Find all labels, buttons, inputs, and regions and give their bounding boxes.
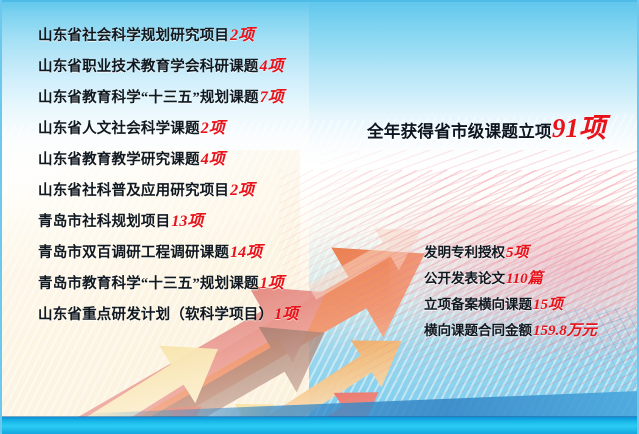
project-label: 山东省重点研发计划（软科学项目） [38, 307, 273, 323]
achievement-value: 159.8万元 [532, 323, 597, 339]
list-item: 发明专利授权5项 [424, 240, 639, 266]
achievement-value: 110篇 [505, 271, 543, 287]
project-label: 山东省社科普及应用研究项目 [38, 183, 229, 199]
headline-value: 91项 [552, 113, 606, 143]
project-value: 14项 [229, 244, 262, 261]
project-label: 山东省社会科学规划研究项目 [38, 28, 229, 44]
list-item: 横向课题合同金额159.8万元 [424, 318, 639, 344]
project-value: 2项 [229, 182, 254, 199]
achievement-label: 发明专利授权 [424, 245, 505, 260]
project-value: 2项 [229, 27, 254, 44]
list-item: 山东省社科普及应用研究项目2项 [38, 175, 368, 206]
project-label: 山东省教育教学研究课题 [38, 152, 200, 168]
list-item: 山东省教育教学研究课题4项 [38, 144, 368, 175]
list-item: 青岛市社科规划项目13项 [38, 206, 368, 237]
list-item: 山东省人文社会科学课题2项 [38, 113, 368, 144]
project-value: 4项 [200, 151, 225, 168]
achievement-value: 15项 [532, 297, 563, 313]
list-item: 山东省重点研发计划（软科学项目）1项 [38, 299, 368, 330]
frame-top-edge [0, 0, 639, 2]
project-value: 1项 [259, 275, 284, 292]
project-label: 山东省职业技术教育学会科研课题 [38, 59, 259, 75]
project-value: 2项 [200, 120, 225, 137]
list-item: 青岛市双百调研工程调研课题14项 [38, 237, 368, 268]
project-label: 山东省教育科学“十三五”规划课题 [38, 90, 259, 106]
list-item: 山东省职业技术教育学会科研课题4项 [38, 51, 368, 82]
achievement-label: 立项备案横向课题 [424, 297, 532, 312]
project-label: 山东省人文社会科学课题 [38, 121, 200, 137]
project-value: 7项 [259, 89, 284, 106]
project-list: 山东省社会科学规划研究项目2项 山东省职业技术教育学会科研课题4项 山东省教育科… [38, 20, 368, 330]
headline-label: 全年获得省市级课题立项 [367, 122, 552, 141]
achievement-label: 公开发表论文 [424, 271, 505, 286]
list-item: 公开发表论文110篇 [424, 266, 639, 292]
bottom-cyan-band [0, 417, 639, 434]
list-item: 山东省教育科学“十三五”规划课题7项 [38, 82, 368, 113]
project-value: 1项 [273, 306, 298, 323]
page-title: 全年获得省市级课题立项91项 [367, 106, 606, 145]
project-label: 青岛市社科规划项目 [38, 214, 170, 230]
project-value: 4项 [259, 58, 284, 75]
slide-canvas: 山东省社会科学规划研究项目2项 山东省职业技术教育学会科研课题4项 山东省教育科… [0, 0, 639, 434]
achievement-value: 5项 [505, 245, 529, 261]
project-label: 青岛市双百调研工程调研课题 [38, 245, 229, 261]
list-item: 青岛市教育科学“十三五”规划课题1项 [38, 268, 368, 299]
list-item: 山东省社会科学规划研究项目2项 [38, 20, 368, 51]
list-item: 立项备案横向课题15项 [424, 292, 639, 318]
achievement-list: 发明专利授权5项 公开发表论文110篇 立项备案横向课题15项 横向课题合同金额… [424, 240, 639, 344]
project-label: 青岛市教育科学“十三五”规划课题 [38, 276, 259, 292]
frame-left-edge [0, 0, 2, 434]
achievement-label: 横向课题合同金额 [424, 323, 532, 338]
project-value: 13项 [170, 213, 203, 230]
